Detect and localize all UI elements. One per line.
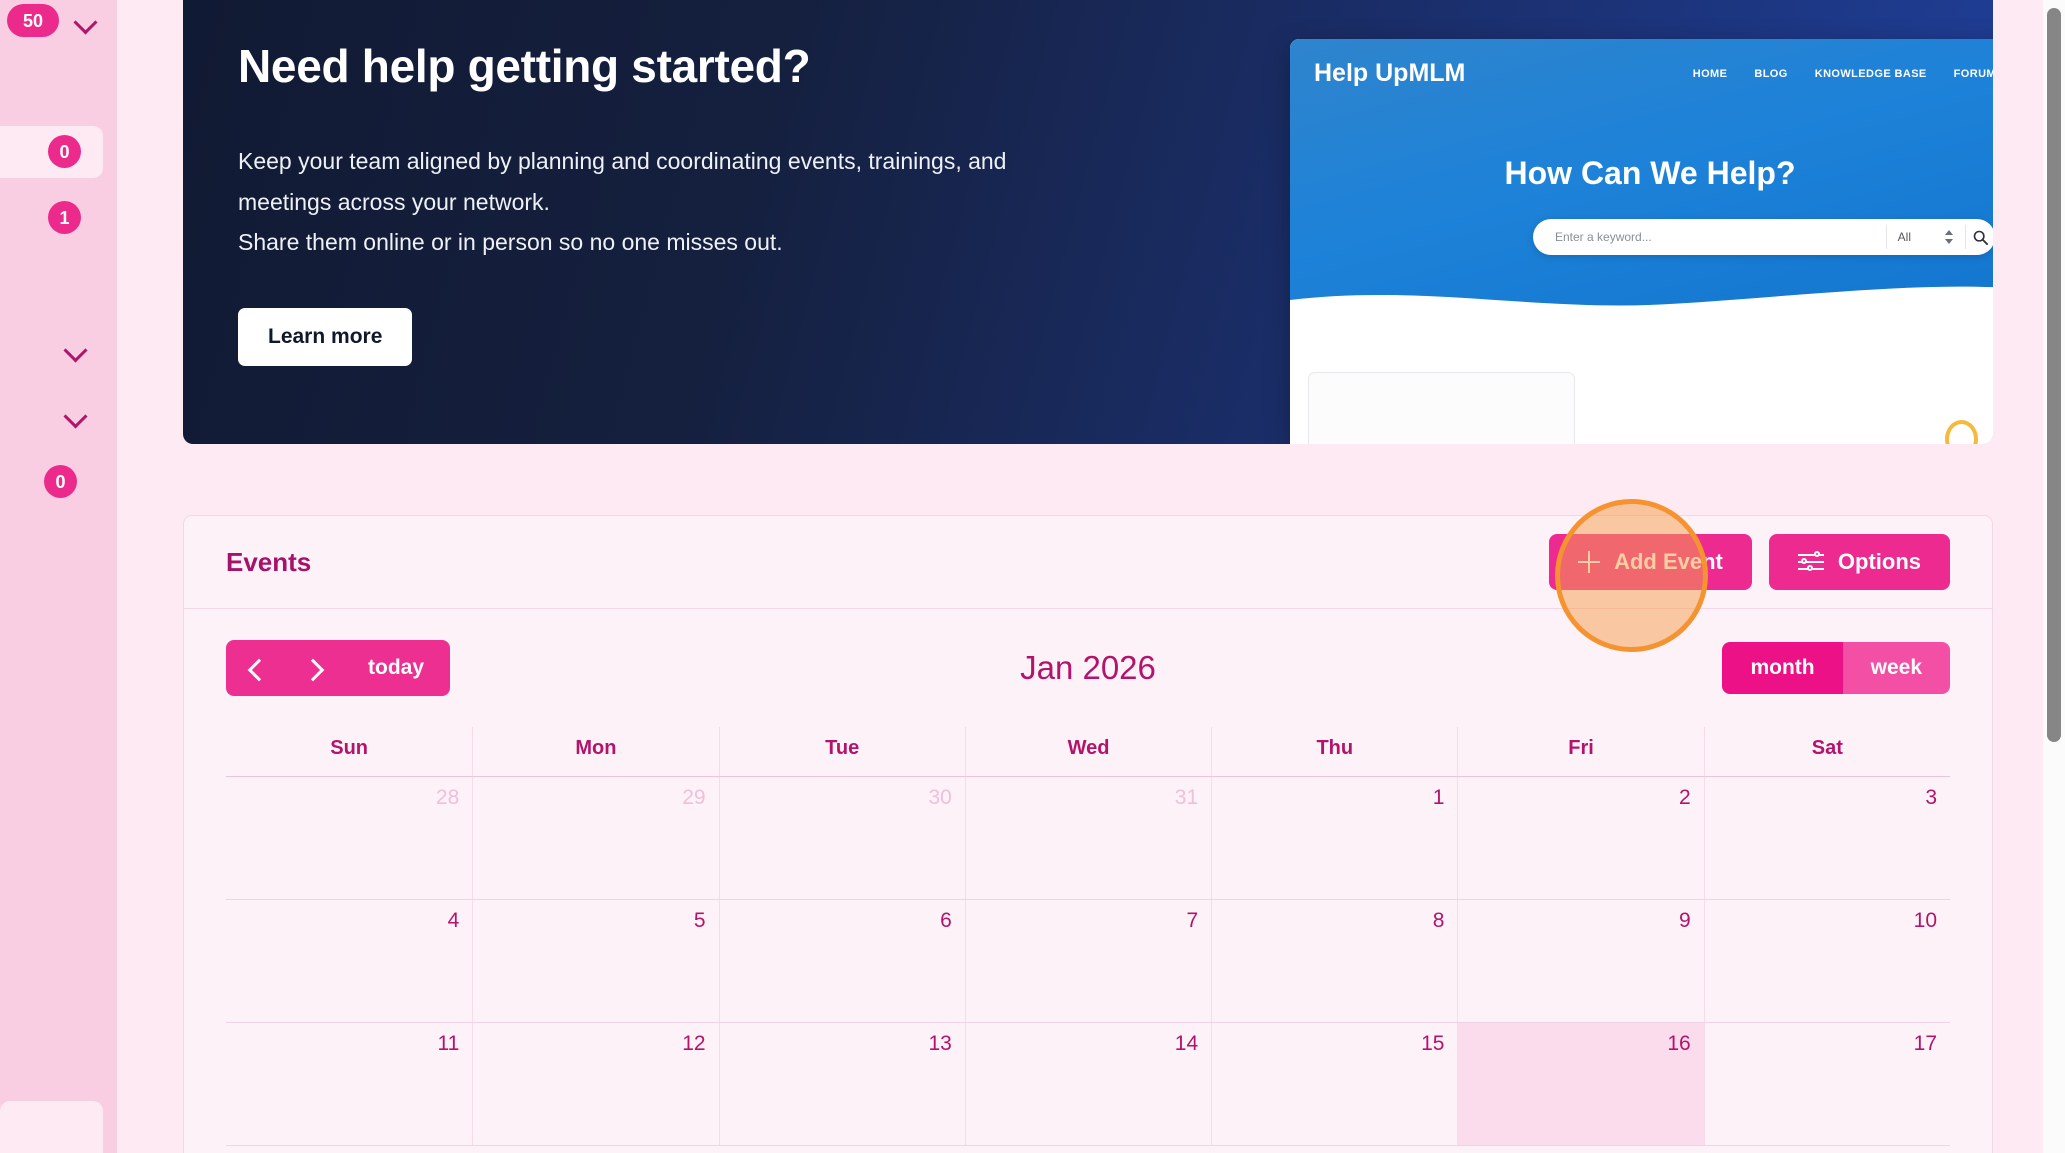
- preview-search-bar[interactable]: Enter a keyword... All: [1533, 219, 1993, 255]
- banner-description: Keep your team aligned by planning and c…: [238, 141, 1258, 263]
- search-icon[interactable]: [1965, 225, 1993, 249]
- calendar-week-row: 45678910: [226, 900, 1950, 1023]
- calendar-day-cell[interactable]: 29: [472, 777, 718, 899]
- preview-nav-home[interactable]: HOME: [1693, 68, 1728, 80]
- calendar-view-switcher: month week: [1722, 642, 1950, 694]
- calendar-day-cell[interactable]: 7: [965, 900, 1211, 1022]
- calendar-title: Jan 2026: [184, 649, 1992, 687]
- chevron-down-icon[interactable]: [63, 336, 89, 362]
- calendar-toolbar: today Jan 2026 month week: [184, 609, 1992, 727]
- sidebar-divider: [117, 0, 133, 1153]
- banner-description-line-3: Share them online or in person so no one…: [238, 222, 1258, 263]
- onboarding-banner: Need help getting started? Keep your tea…: [183, 0, 1993, 444]
- sidebar-item-count-0-active[interactable]: 0: [0, 135, 117, 168]
- calendar-day-cell[interactable]: 17: [1704, 1023, 1950, 1145]
- page-scrollbar[interactable]: [2043, 0, 2065, 1153]
- chevron-down-icon[interactable]: [73, 8, 99, 34]
- preview-header: Help UpMLM HOME BLOG KNOWLEDGE BASE FORU…: [1290, 39, 1993, 324]
- sidebar: 50 0 1 0: [0, 0, 117, 1153]
- calendar-view-week[interactable]: week: [1843, 642, 1950, 694]
- calendar-nav-group: today: [226, 640, 450, 696]
- preview-wave-decoration: [1290, 282, 1993, 326]
- calendar-day-cell[interactable]: 11: [226, 1023, 472, 1145]
- sidebar-bottom-indicator: [0, 1101, 103, 1153]
- sidebar-badge-0-active: 0: [48, 135, 81, 168]
- chevron-down-icon[interactable]: [63, 402, 89, 428]
- calendar-week-row: 11121314151617: [226, 1023, 1950, 1146]
- preview-search-scope-select[interactable]: All: [1886, 225, 1965, 249]
- calendar-day-cell[interactable]: 9: [1457, 900, 1703, 1022]
- chevron-left-icon: [247, 660, 264, 677]
- preview-headline: How Can We Help?: [1290, 155, 1993, 192]
- main-content: Need help getting started? Keep your tea…: [133, 0, 2020, 1153]
- plus-icon: [1578, 551, 1600, 573]
- weekday-wed: Wed: [965, 727, 1211, 776]
- preview-nav: HOME BLOG KNOWLEDGE BASE FORUM: [1693, 68, 1993, 80]
- preview-nav-knowledge-base[interactable]: KNOWLEDGE BASE: [1815, 68, 1927, 80]
- weekday-tue: Tue: [719, 727, 965, 776]
- calendar-week-row: 28293031123: [226, 777, 1950, 900]
- sidebar-badge-0: 0: [44, 465, 77, 498]
- events-panel-header: Events Add Event Options: [184, 516, 1992, 609]
- calendar-day-cell[interactable]: 15: [1211, 1023, 1457, 1145]
- banner-description-line-1: Keep your team aligned by planning and c…: [238, 141, 1258, 182]
- calendar-day-cell[interactable]: 14: [965, 1023, 1211, 1145]
- preview-content-card: [1308, 372, 1575, 444]
- sidebar-badge-50: 50: [7, 4, 59, 37]
- weekday-thu: Thu: [1211, 727, 1457, 776]
- preview-ring-decoration: [1945, 420, 1978, 444]
- preview-nav-forum[interactable]: FORUM: [1954, 68, 1993, 80]
- app-screen: 50 0 1 0 Need help getting started? Keep…: [0, 0, 2065, 1153]
- weekday-sun: Sun: [226, 727, 472, 776]
- calendar-day-cell[interactable]: 6: [719, 900, 965, 1022]
- learn-more-button[interactable]: Learn more: [238, 308, 412, 366]
- events-panel-actions: Add Event Options: [1549, 534, 1950, 590]
- add-event-button[interactable]: Add Event: [1549, 534, 1752, 590]
- sidebar-badge-1: 1: [48, 201, 81, 234]
- weekday-sat: Sat: [1704, 727, 1950, 776]
- preview-logo: Help UpMLM: [1314, 59, 1465, 88]
- calendar-weekday-header: Sun Mon Tue Wed Thu Fri Sat: [226, 727, 1950, 776]
- calendar-day-cell[interactable]: 28: [226, 777, 472, 899]
- calendar-day-cell[interactable]: 8: [1211, 900, 1457, 1022]
- chevron-right-icon: [305, 660, 322, 677]
- banner-title: Need help getting started?: [238, 40, 1258, 93]
- sidebar-item-count-0[interactable]: 0: [0, 465, 117, 498]
- options-button[interactable]: Options: [1769, 534, 1950, 590]
- calendar-grid: Sun Mon Tue Wed Thu Fri Sat 282930311234…: [226, 727, 1950, 1153]
- calendar-day-cell[interactable]: 16: [1457, 1023, 1703, 1145]
- calendar-day-cell[interactable]: 4: [226, 900, 472, 1022]
- weekday-mon: Mon: [472, 727, 718, 776]
- calendar-day-cell[interactable]: 13: [719, 1023, 965, 1145]
- calendar-day-cell[interactable]: 10: [1704, 900, 1950, 1022]
- calendar-day-cell[interactable]: 5: [472, 900, 718, 1022]
- calendar-day-cell[interactable]: 30: [719, 777, 965, 899]
- preview-search-scope-value: All: [1898, 230, 1911, 244]
- calendar-next-button[interactable]: [284, 640, 342, 696]
- preview-search-input[interactable]: Enter a keyword...: [1533, 230, 1886, 244]
- sidebar-item-group-a[interactable]: [0, 336, 117, 362]
- calendar-today-button[interactable]: today: [342, 640, 450, 696]
- page-scrollbar-thumb[interactable]: [2047, 8, 2061, 742]
- calendar-day-cell[interactable]: 3: [1704, 777, 1950, 899]
- help-site-preview[interactable]: Help UpMLM HOME BLOG KNOWLEDGE BASE FORU…: [1290, 39, 1993, 444]
- calendar-day-cell[interactable]: 1: [1211, 777, 1457, 899]
- preview-nav-blog[interactable]: BLOG: [1754, 68, 1787, 80]
- banner-description-line-2: meetings across your network.: [238, 182, 1258, 223]
- sidebar-item-count-1[interactable]: 1: [0, 201, 117, 234]
- weekday-fri: Fri: [1457, 727, 1703, 776]
- events-panel: Events Add Event Options: [183, 515, 1993, 1153]
- calendar-day-cell[interactable]: 31: [965, 777, 1211, 899]
- calendar-day-cell[interactable]: 12: [472, 1023, 718, 1145]
- calendar-day-cell[interactable]: 2: [1457, 777, 1703, 899]
- calendar-view-month[interactable]: month: [1722, 642, 1842, 694]
- banner-text-block: Need help getting started? Keep your tea…: [238, 40, 1258, 366]
- options-button-label: Options: [1838, 549, 1921, 575]
- chevron-updown-icon: [1945, 230, 1954, 244]
- sliders-icon: [1798, 551, 1824, 573]
- preview-body: [1290, 324, 1993, 444]
- calendar-weeks: 282930311234567891011121314151617: [226, 776, 1950, 1146]
- sidebar-item-count-50[interactable]: 50: [0, 4, 117, 37]
- add-event-button-label: Add Event: [1614, 549, 1723, 575]
- page-title: Events: [226, 547, 311, 578]
- calendar-prev-button[interactable]: [226, 640, 284, 696]
- sidebar-item-group-b[interactable]: [0, 402, 117, 428]
